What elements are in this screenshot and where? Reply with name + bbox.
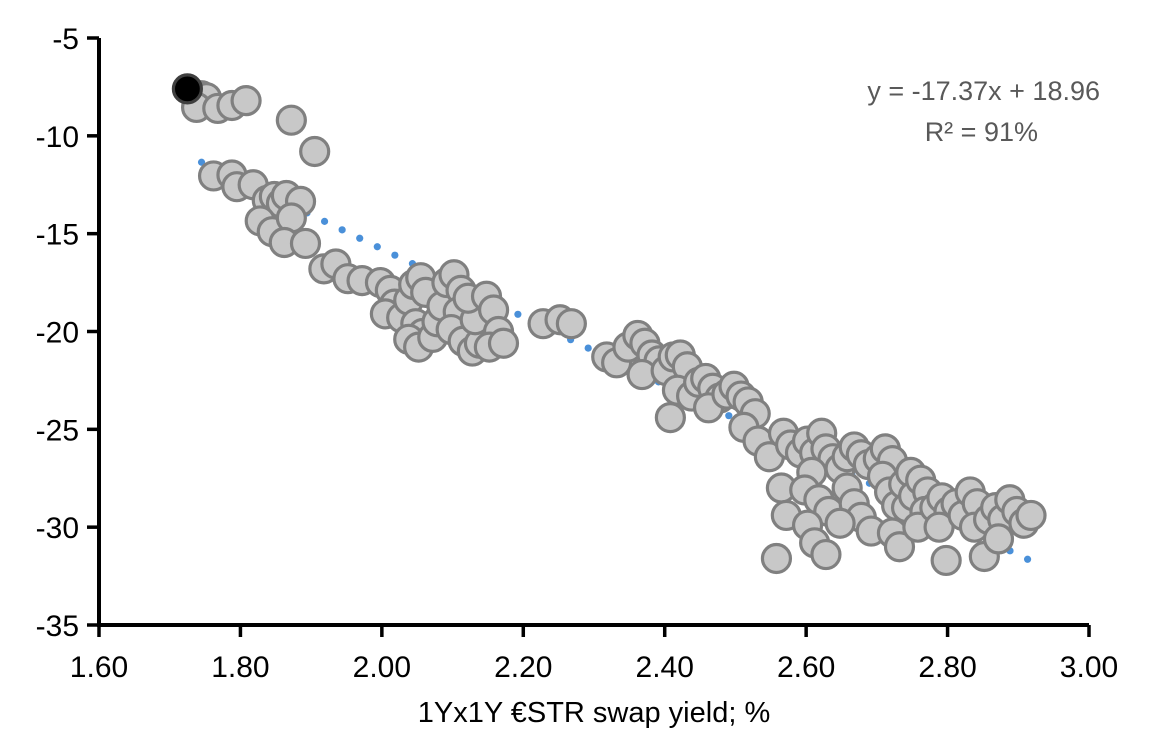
- x-axis-tick-label: 2.80: [918, 651, 976, 684]
- x-axis-title: 1Yx1Y €STR swap yield; %: [418, 697, 770, 729]
- x-axis-tick-label: 2.40: [636, 651, 694, 684]
- scatter-point: [932, 546, 960, 574]
- scatter-point: [812, 541, 840, 569]
- y-axis-tick-label: -30: [36, 512, 79, 545]
- trendline-dot: [339, 226, 346, 233]
- scatter-point: [277, 106, 305, 134]
- x-axis-tick-label: 2.00: [353, 651, 411, 684]
- y-axis-tick-label: -5: [52, 23, 79, 56]
- scatter-point: [762, 544, 790, 572]
- trendline-dot: [374, 243, 381, 250]
- x-axis-tick-label: 2.20: [494, 651, 552, 684]
- scatter-point: [984, 525, 1012, 553]
- y-axis-tick-label: -10: [36, 121, 79, 154]
- highlighted-scatter-point: [173, 75, 201, 103]
- trendline-dot: [321, 218, 328, 225]
- scatter-point: [826, 509, 854, 537]
- scatter-point: [489, 329, 517, 357]
- x-axis-tick-label: 3.00: [1060, 651, 1118, 684]
- trendline-dot: [514, 311, 521, 318]
- r-squared-label: R² = 91%: [925, 117, 1038, 147]
- y-axis-tick-label: -25: [36, 414, 79, 447]
- trendline-dot: [391, 252, 398, 259]
- y-axis-tick-label: -20: [36, 317, 79, 350]
- scatter-point: [291, 229, 319, 257]
- scatter-point: [301, 137, 329, 165]
- trendline-dot: [1024, 556, 1031, 563]
- trendline-equation-label: y = -17.37x + 18.96: [867, 76, 1100, 106]
- trendline-dot: [356, 235, 363, 242]
- plot-background: [0, 0, 1152, 745]
- y-axis-tick-label: -35: [36, 610, 79, 643]
- y-axis-tick-label: -15: [36, 219, 79, 252]
- chart-canvas: 1.601.802.002.202.402.602.803.00 -5-10-1…: [0, 0, 1152, 745]
- trendline-dot: [585, 345, 592, 352]
- scatter-point: [656, 404, 684, 432]
- x-axis-tick-label: 2.60: [777, 651, 835, 684]
- scatter-point: [1017, 501, 1045, 529]
- highlighted-point: [173, 75, 201, 103]
- scatter-point: [557, 310, 585, 338]
- x-axis-tick-label: 1.60: [70, 651, 128, 684]
- scatter-chart: 1.601.802.002.202.402.602.803.00 -5-10-1…: [0, 0, 1152, 745]
- x-axis-tick-label: 1.80: [211, 651, 269, 684]
- scatter-point: [232, 87, 260, 115]
